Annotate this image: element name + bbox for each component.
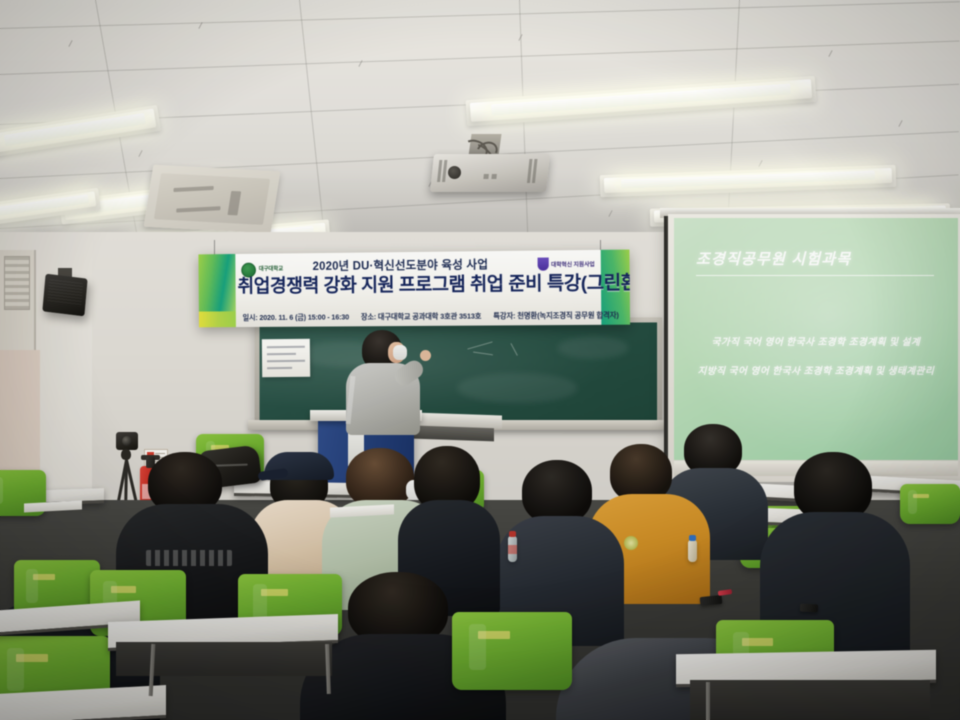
water-bottle-2 xyxy=(688,540,697,562)
photo-scene: 대구대학교 대학혁신 지원사업 2020년 DU·혁신선도분야 육성 사업 취업… xyxy=(0,0,960,720)
desk-front-2-skirt xyxy=(116,642,332,676)
slide-divider xyxy=(696,275,934,276)
jacket-logo xyxy=(146,550,232,566)
desk-leg-3 xyxy=(706,682,710,720)
banner-title: 취업경쟁력 강화 지원 프로그램 취업 준비 특강(그린환경 분야) xyxy=(237,269,607,298)
banner-place: 장소: 대구대학교 공과대학 3호관 3513호 xyxy=(361,311,481,321)
banner-speaker: 특강자: 천명환(녹지조경직 공무원 합격자) xyxy=(493,311,619,321)
slide-row-national: 국가직 국어 영어 한국사 조경학 조경계획 및 설계 xyxy=(674,334,958,348)
wall-speaker xyxy=(42,274,87,317)
slide-title: 조경직공무원 시험과목 xyxy=(696,248,851,269)
banner-stripe-left xyxy=(198,254,236,327)
banner-details: 일시: 2020. 11. 6 (금) 15:00 - 16:30 장소: 대구… xyxy=(238,311,604,323)
presenter xyxy=(336,330,428,430)
banner-datetime: 일시: 2020. 11. 6 (금) 15:00 - 16:30 xyxy=(243,312,350,322)
presenter-hand xyxy=(420,350,431,361)
water-bottle-1 xyxy=(508,536,517,562)
desk-front-4-skirt xyxy=(690,680,930,720)
logo-right-text: 대학혁신 지원사업 xyxy=(551,260,595,269)
smartphone-2[interactable] xyxy=(800,604,818,613)
ceiling-air-conditioner xyxy=(144,165,281,234)
chair-front-5[interactable] xyxy=(452,612,572,690)
face-mask-icon xyxy=(393,345,407,360)
event-banner: 대구대학교 대학혁신 지원사업 2020년 DU·혁신선도분야 육성 사업 취업… xyxy=(198,250,630,328)
ceiling-projector xyxy=(432,146,548,192)
wall-notice-sheet xyxy=(262,339,310,378)
slide-row-local: 지방직 국어 영어 한국사 조경학 조경계획 및 생태계관리 xyxy=(674,363,958,377)
